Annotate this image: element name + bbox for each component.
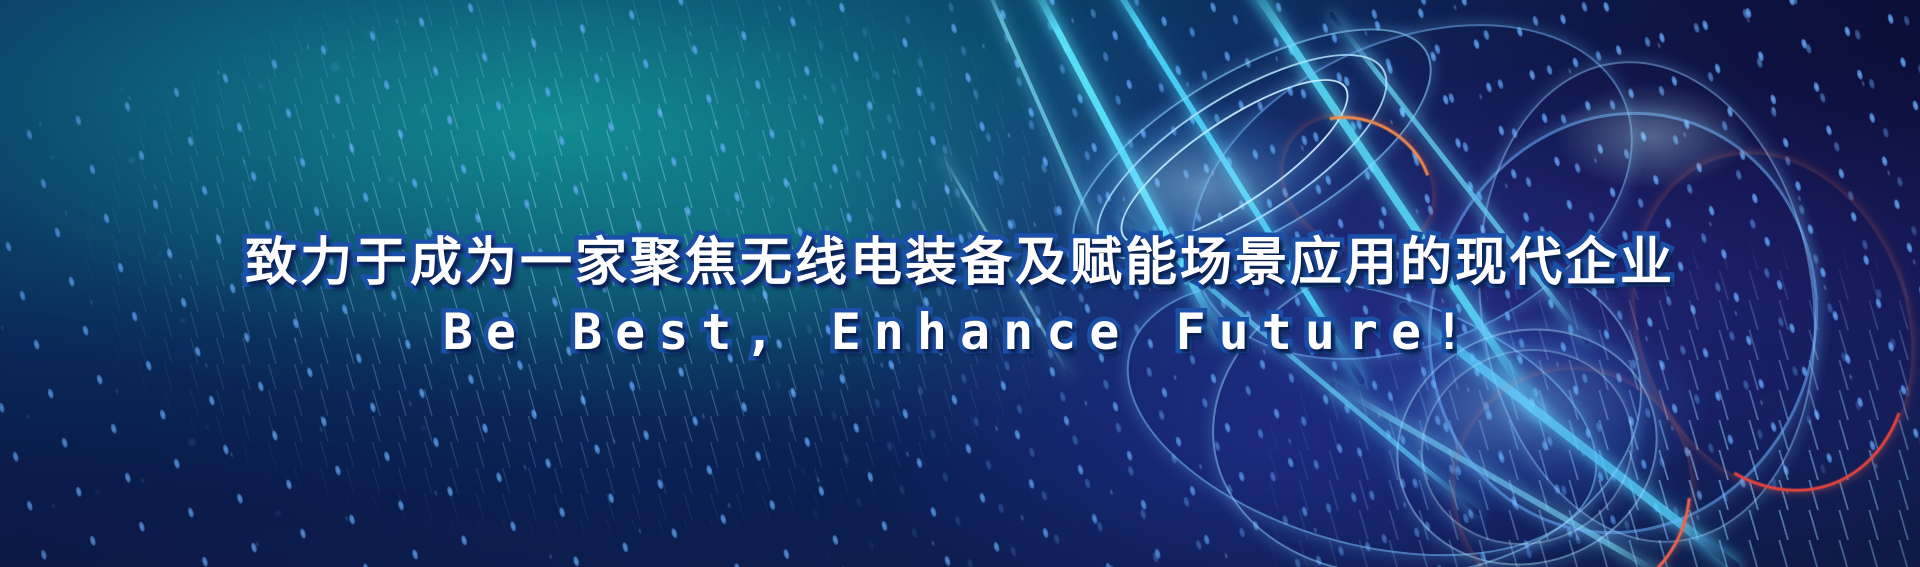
- bokeh-dot: [205, 425, 209, 429]
- headline-block: 致力于成为一家聚焦无线电装备及赋能场景应用的现代企业 Be Best, Enha…: [0, 236, 1920, 358]
- beam-3: [978, 0, 1104, 247]
- bokeh-dot: [366, 30, 371, 35]
- orbital-ring-outer: [1138, 0, 1686, 425]
- bokeh-dot: [188, 438, 196, 446]
- bokeh-dot: [258, 83, 264, 89]
- bokeh-dot: [120, 88, 124, 92]
- bokeh-dot: [275, 510, 281, 516]
- headline-chinese: 致力于成为一家聚焦无线电装备及赋能场景应用的现代企业: [0, 236, 1920, 290]
- bokeh-dot: [352, 56, 356, 60]
- hero-banner: 致力于成为一家聚焦无线电装备及赋能场景应用的现代企业 Be Best, Enha…: [0, 0, 1920, 567]
- bokeh-dot: [420, 425, 426, 431]
- headline-english: Be Best, Enhance Future!: [0, 306, 1920, 358]
- bokeh-dot: [50, 155, 55, 160]
- bokeh-dot: [387, 176, 394, 183]
- bokeh-dot: [128, 157, 135, 164]
- bokeh-dot: [95, 490, 100, 495]
- bokeh-dot: [247, 185, 252, 190]
- bokeh-dot: [330, 62, 340, 72]
- beam-8: [1329, 380, 1678, 567]
